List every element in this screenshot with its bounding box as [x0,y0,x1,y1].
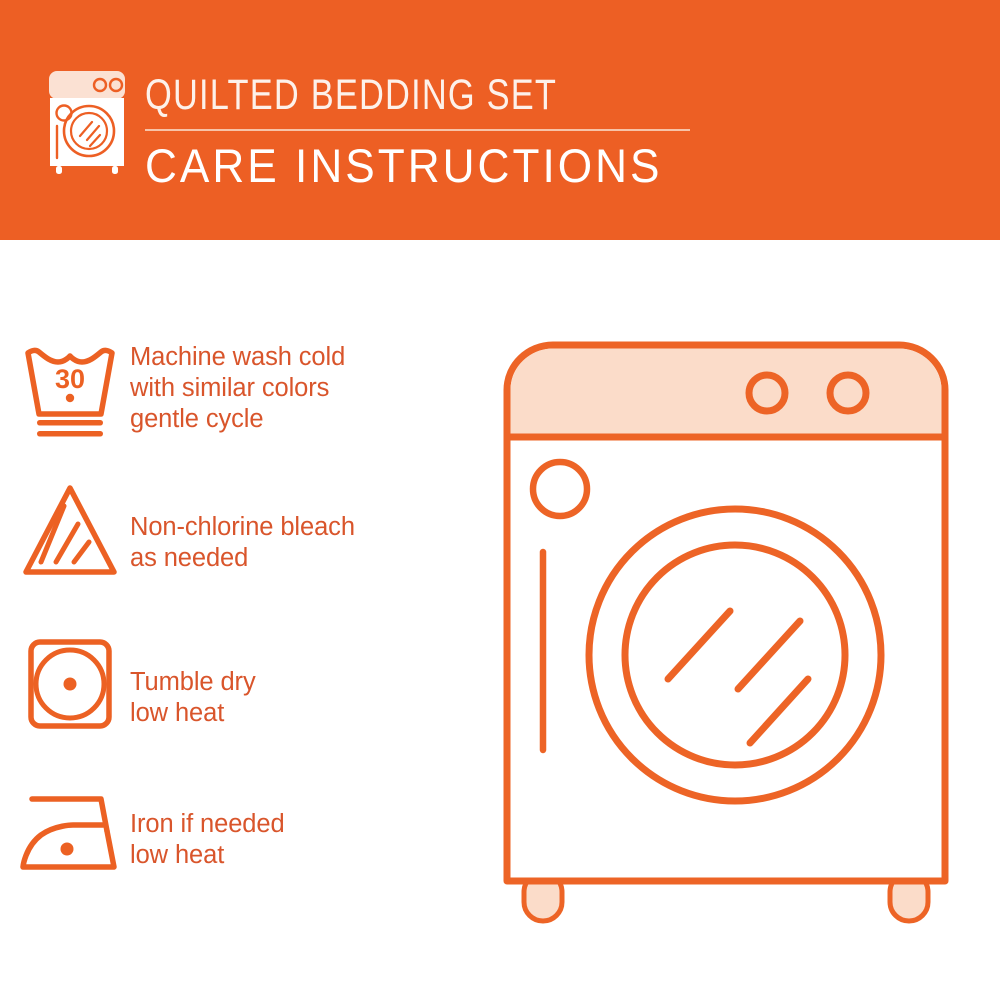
wash-tub-30-gentle-icon: 30 [0,340,130,444]
care-text-bleach: Non-chlorine bleach as needed [130,480,355,574]
care-row-iron: Iron if needed low heat [0,785,480,877]
front-load-washing-machine-illustration [490,325,980,935]
iron-low-heat-icon [0,785,130,877]
washing-machine-icon [42,68,138,176]
care-text-machine-wash: Machine wash cold with similar colors ge… [130,340,345,435]
care-line: with similar colors [130,373,345,404]
care-line: as needed [130,543,355,574]
care-row-machine-wash: 30 Machine wash cold with similar colors… [0,340,480,444]
page-title: QUILTED BEDDING SET [145,70,593,120]
title-divider [145,129,690,131]
care-line: low heat [130,840,285,871]
care-line: low heat [130,698,256,729]
care-instruction-list: 30 Machine wash cold with similar colors… [0,240,480,940]
header-text-block: QUILTED BEDDING SET CARE INSTRUCTIONS [145,70,705,193]
care-instructions-page: QUILTED BEDDING SET CARE INSTRUCTIONS 30… [0,0,1000,1000]
care-line: gentle cycle [130,404,345,435]
header-banner: QUILTED BEDDING SET CARE INSTRUCTIONS [0,0,1000,240]
care-row-tumble-dry: Tumble dry low heat [0,632,480,736]
care-text-tumble-dry: Tumble dry low heat [130,632,256,729]
page-subtitle: CARE INSTRUCTIONS [145,139,671,193]
control-panel [511,349,942,438]
tumble-dry-low-icon [0,632,130,736]
wash-temperature-value: 30 [55,364,85,394]
care-line: Non-chlorine bleach [130,512,355,543]
care-line: Iron if needed [130,809,285,840]
care-row-bleach: Non-chlorine bleach as needed [0,480,480,580]
care-text-iron: Iron if needed low heat [130,785,285,871]
care-line: Machine wash cold [130,342,345,373]
non-chlorine-bleach-triangle-icon [0,480,130,580]
care-line: Tumble dry [130,667,256,698]
